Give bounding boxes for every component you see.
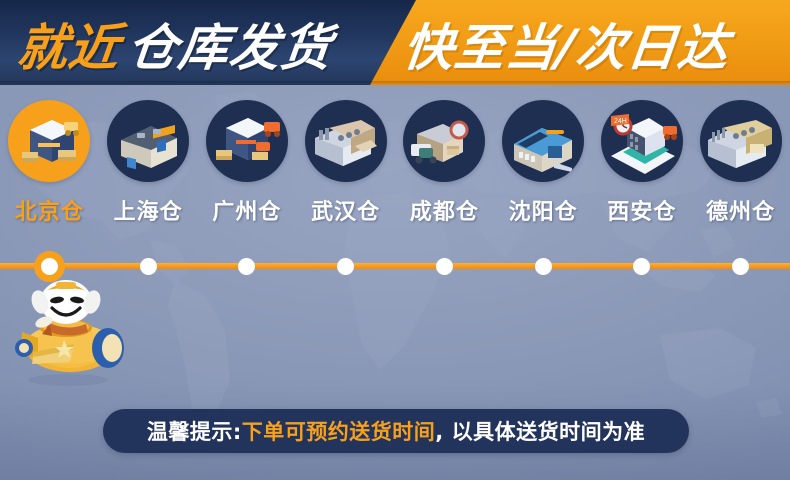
header-accent-text: 就近 (14, 8, 124, 80)
warehouse-label: 沈阳仓 (509, 194, 578, 226)
warehouse-delivery-banner: 就近 仓库发货 快至当/次日达 (0, 0, 790, 480)
banner-header: 就近 仓库发货 快至当/次日达 (0, 0, 790, 85)
timeline-dot-chengdu[interactable] (395, 260, 494, 272)
warehouse-label: 北京仓 (15, 194, 84, 226)
tip-suffix: , 以具体送货时间为准 (435, 416, 645, 446)
warehouse-label: 德州仓 (706, 194, 775, 226)
warehouse-item-guangzhou[interactable]: 广州仓 (198, 100, 297, 240)
warehouse-item-wuhan[interactable]: 武汉仓 (296, 100, 395, 240)
header-white-text: 仓库发货 (124, 8, 336, 80)
warehouse-item-chengdu[interactable]: 成都仓 (395, 100, 494, 240)
timeline-dot-dezhou[interactable] (691, 260, 790, 272)
warehouse-icon-circle (502, 100, 584, 182)
header-title-left: 就近 仓库发货 (18, 8, 332, 80)
tip-text: 温馨提示: 下单可预约送货时间 , 以具体送货时间为准 (147, 416, 645, 446)
warehouse-list: 北京仓 上海仓 (0, 100, 790, 240)
warehouse-store-icon (107, 100, 189, 182)
warehouse-label: 成都仓 (410, 194, 479, 226)
svg-text:24H: 24H (614, 118, 627, 125)
warehouse-icon-circle (403, 100, 485, 182)
warehouse-icon-circle (107, 100, 189, 182)
warehouse-label: 武汉仓 (311, 194, 380, 226)
warehouse-item-xian[interactable]: 24H 西安仓 (593, 100, 692, 240)
timeline-dot-guangzhou[interactable] (198, 260, 297, 272)
warehouse-depot-icon (700, 100, 782, 182)
joy-dog-airplane-mascot (4, 278, 132, 390)
warehouse-icon-circle (8, 100, 90, 182)
tip-banner: 温馨提示: 下单可预约送货时间 , 以具体送货时间为准 (103, 409, 689, 453)
warehouse-icon-circle (206, 100, 288, 182)
tip-highlight: 下单可预约送货时间 (242, 416, 436, 446)
warehouse-icon-circle: 24H (601, 100, 683, 182)
header-shadow (0, 81, 790, 85)
timeline-dot-beijing[interactable] (0, 260, 99, 272)
warehouse-label: 上海仓 (114, 194, 183, 226)
warehouse-icon-circle (700, 100, 782, 182)
timeline-dot-shenyang[interactable] (494, 260, 593, 272)
warehouse-item-shenyang[interactable]: 沈阳仓 (494, 100, 593, 240)
warehouse-mobile-24h-icon: 24H (601, 100, 683, 182)
warehouse-forklift-icon (8, 100, 90, 182)
timeline-dot-xian[interactable] (593, 260, 692, 272)
warehouse-delivery-icon (403, 100, 485, 182)
warehouse-item-dezhou[interactable]: 德州仓 (691, 100, 790, 240)
timeline-dot-shanghai[interactable] (99, 260, 198, 272)
warehouse-item-beijing[interactable]: 北京仓 (0, 100, 99, 240)
warehouse-timeline (0, 260, 790, 272)
timeline-dot-wuhan[interactable] (296, 260, 395, 272)
warehouse-item-shanghai[interactable]: 上海仓 (99, 100, 198, 240)
warehouse-factory-icon (305, 100, 387, 182)
warehouse-label: 西安仓 (607, 194, 676, 226)
warehouse-bluetop-icon (502, 100, 584, 182)
header-title-right: 快至当/次日达 (400, 8, 733, 80)
warehouse-truck-icon (206, 100, 288, 182)
warehouse-label: 广州仓 (212, 194, 281, 226)
tip-prefix: 温馨提示: (147, 416, 242, 446)
warehouse-icon-circle (305, 100, 387, 182)
